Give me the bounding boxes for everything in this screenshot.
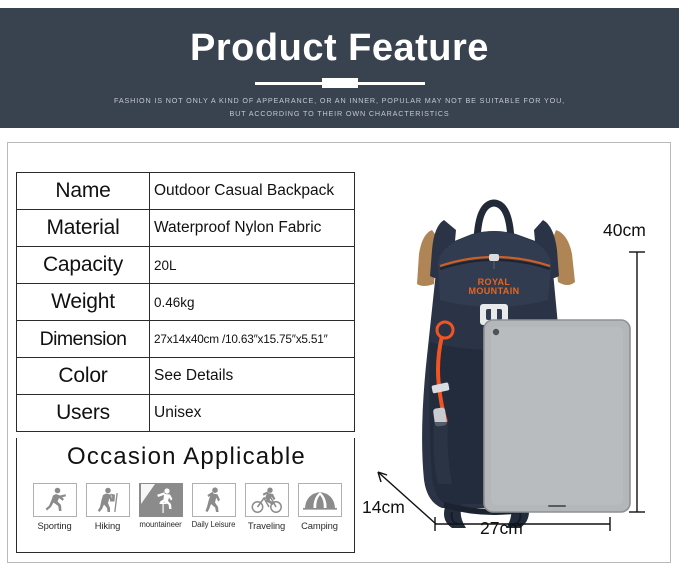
spec-value-material: Waterproof Nylon Fabric xyxy=(150,210,355,247)
occasion-title: Occasion Applicable xyxy=(17,443,356,471)
occasion-item-hiking: Hiking xyxy=(84,483,131,531)
spec-label-dimension: Dimension xyxy=(17,321,150,358)
header-banner: Product Feature FASHION IS NOT ONLY A KI… xyxy=(0,8,679,128)
spec-value-name: Outdoor Casual Backpack xyxy=(150,173,355,210)
occasion-item-mountaineer: mountaineer xyxy=(137,483,184,531)
occasion-label-traveling: Traveling xyxy=(248,520,285,531)
spec-label-color: Color xyxy=(17,358,150,395)
cyclist-icon xyxy=(245,483,289,517)
occasion-item-daily-leisure: Daily Leisure xyxy=(190,483,237,531)
dimension-label-depth: 14cm xyxy=(362,497,405,518)
occasion-applicable-section: Occasion Applicable Sporting xyxy=(16,438,355,553)
spec-value-dimension: 27x14x40cm /10.63″x15.75″x5.51″ xyxy=(150,321,355,358)
runner-icon xyxy=(33,483,77,517)
table-row: Color See Details xyxy=(17,358,355,395)
spec-value-color: See Details xyxy=(150,358,355,395)
spec-value-users: Unisex xyxy=(150,395,355,432)
occasion-label-mountaineer: mountaineer xyxy=(139,520,181,529)
climber-icon xyxy=(139,483,183,517)
tent-icon xyxy=(298,483,342,517)
occasion-item-traveling: Traveling xyxy=(243,483,290,531)
table-row: Dimension 27x14x40cm /10.63″x15.75″x5.51… xyxy=(17,321,355,358)
table-row: Name Outdoor Casual Backpack xyxy=(17,173,355,210)
spec-label-weight: Weight xyxy=(17,284,150,321)
hiker-icon xyxy=(86,483,130,517)
spec-label-capacity: Capacity xyxy=(17,247,150,284)
occasion-item-sporting: Sporting xyxy=(31,483,78,531)
occasion-label-hiking: Hiking xyxy=(95,520,120,531)
table-row: Material Waterproof Nylon Fabric xyxy=(17,210,355,247)
page-title: Product Feature xyxy=(0,26,679,70)
specification-table: Name Outdoor Casual Backpack Material Wa… xyxy=(16,172,355,432)
title-divider-knob xyxy=(322,78,358,88)
occasion-icon-row: Sporting Hiking xyxy=(31,483,343,531)
spec-label-material: Material xyxy=(17,210,150,247)
occasion-label-camping: Camping xyxy=(301,520,338,531)
table-row: Users Unisex xyxy=(17,395,355,432)
occasion-item-camping: Camping xyxy=(296,483,343,531)
spec-value-capacity: 20L xyxy=(150,247,355,284)
content-box: Name Outdoor Casual Backpack Material Wa… xyxy=(7,142,671,563)
table-row: Capacity 20L xyxy=(17,247,355,284)
table-row: Weight 0.46kg xyxy=(17,284,355,321)
occasion-label-daily-leisure: Daily Leisure xyxy=(192,520,236,529)
walker-icon xyxy=(192,483,236,517)
spec-value-weight: 0.46kg xyxy=(150,284,355,321)
spec-label-name: Name xyxy=(17,173,150,210)
banner-subtitle-line2: BUT ACCORDING TO THEIR OWN CHARACTERISTI… xyxy=(229,109,449,118)
product-image-panel: ROYAL MOUNTAIN xyxy=(360,172,663,553)
dimension-label-height: 40cm xyxy=(603,220,646,241)
banner-subtitle-line1: FASHION IS NOT ONLY A KIND OF APPEARANCE… xyxy=(114,96,565,105)
dimension-label-width: 27cm xyxy=(480,518,523,539)
spec-label-users: Users xyxy=(17,395,150,432)
banner-subtitle: FASHION IS NOT ONLY A KIND OF APPEARANCE… xyxy=(90,94,589,120)
brand-logo-line2: MOUNTAIN xyxy=(468,286,519,296)
occasion-label-sporting: Sporting xyxy=(37,520,71,531)
